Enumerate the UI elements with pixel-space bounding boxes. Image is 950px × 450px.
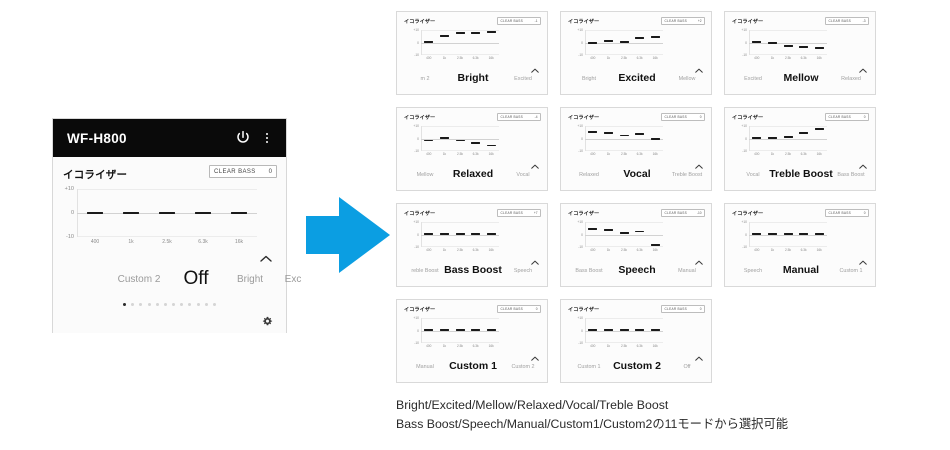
preset-current: Custom 2 — [613, 360, 661, 372]
equalizer-title: イコライザー — [568, 18, 599, 25]
eq-band-bar[interactable] — [456, 140, 465, 142]
grid-line-top — [585, 222, 663, 223]
y-tick-label: +10 — [413, 220, 419, 224]
right-arrow-icon — [306, 197, 390, 273]
eq-band-bar[interactable] — [424, 233, 433, 235]
eq-band-bar[interactable] — [471, 32, 480, 34]
clear-bass-value: 0 — [864, 211, 866, 215]
eq-band-bar[interactable] — [620, 232, 629, 234]
eq-band-bar[interactable] — [487, 145, 496, 147]
card-row: イコライザーCLEAR BASS-4+100-104001k2.5k6.3k16… — [396, 107, 876, 191]
eq-band-bar[interactable] — [635, 37, 644, 39]
clear-bass-label: CLEAR BASS — [665, 19, 698, 23]
grid-line-top — [421, 222, 499, 223]
page-dot[interactable] — [197, 303, 200, 306]
y-tick-label: +10 — [741, 124, 747, 128]
chevron-up-icon[interactable] — [531, 156, 539, 161]
y-tick-label: -10 — [66, 234, 74, 240]
preset-current: Off — [184, 268, 209, 290]
clear-bass-value: -1 — [535, 19, 538, 23]
x-tick-label: 1k — [607, 56, 610, 60]
chevron-up-icon[interactable] — [260, 249, 272, 256]
equalizer-graph[interactable]: +100-104001k2.5k6.3k16k — [749, 30, 827, 55]
eq-band-bar[interactable] — [799, 46, 808, 48]
preset-card[interactable]: イコライザーCLEAR BASS0+100-104001k2.5k6.3k16k… — [560, 107, 712, 191]
gear-icon[interactable] — [262, 314, 273, 325]
eq-band-bar[interactable] — [471, 329, 480, 331]
preset-prev[interactable]: Speech — [744, 268, 762, 274]
preset-current: Manual — [783, 264, 819, 276]
clear-bass-label: CLEAR BASS — [829, 211, 864, 215]
x-tick-label: 6.3k — [473, 56, 479, 60]
x-tick-label: 16k — [653, 56, 658, 60]
clear-bass-label: CLEAR BASS — [665, 307, 700, 311]
grid-line-top — [77, 189, 257, 190]
x-tick-label: 2.5k — [785, 152, 791, 156]
eq-band-bar[interactable] — [651, 329, 660, 331]
x-tick-label: 400 — [754, 248, 759, 252]
eq-band-bar[interactable] — [487, 233, 496, 235]
y-tick-label: -10 — [578, 245, 583, 249]
x-tick-label: 400 — [590, 344, 595, 348]
clear-bass-badge[interactable]: CLEAR BASS0 — [661, 305, 705, 313]
eq-band-bar[interactable] — [424, 41, 433, 43]
clear-bass-label: CLEAR BASS — [829, 115, 864, 119]
clear-bass-value: +7 — [534, 211, 538, 215]
grid-line-top — [749, 126, 827, 127]
x-tick-label: 2.5k — [621, 248, 627, 252]
grid-line-top — [421, 126, 499, 127]
y-tick-label: -10 — [414, 245, 419, 249]
eq-band-bar[interactable] — [815, 128, 824, 130]
y-tick-label: -10 — [578, 341, 583, 345]
y-tick-label: 0 — [417, 41, 419, 45]
x-tick-label: 1k — [607, 152, 610, 156]
eq-band-bar[interactable] — [440, 233, 449, 235]
preset-prev[interactable]: Custom 2 — [118, 274, 161, 285]
grid-line-top — [585, 30, 663, 31]
x-tick-label: 400 — [426, 152, 431, 156]
x-tick-label: 1k — [128, 239, 133, 245]
y-tick-label: 0 — [581, 41, 583, 45]
x-tick-label: 400 — [754, 56, 759, 60]
y-tick-label: 0 — [745, 137, 747, 141]
equalizer-title: イコライザー — [404, 210, 435, 217]
preset-next[interactable]: Treble Boost — [672, 172, 702, 178]
y-tick-label: -10 — [578, 149, 583, 153]
eq-band-bar[interactable] — [456, 32, 465, 34]
eq-band-bar[interactable] — [651, 138, 660, 140]
eq-band-bar[interactable] — [424, 329, 433, 331]
eq-band-bar[interactable] — [588, 42, 597, 44]
y-tick-label: -10 — [414, 53, 419, 57]
clear-bass-label: CLEAR BASS — [501, 307, 536, 311]
page-dot[interactable] — [131, 303, 134, 306]
preset-card[interactable]: イコライザーCLEAR BASS-10+100-104001k2.5k6.3k1… — [560, 203, 712, 287]
eq-band-bar[interactable] — [768, 137, 777, 139]
equalizer-title: イコライザー — [404, 114, 435, 121]
eq-band-bar[interactable] — [815, 47, 824, 49]
grid-line-bottom — [421, 246, 499, 247]
chevron-up-icon[interactable] — [859, 252, 867, 257]
eq-band-bar[interactable] — [604, 40, 613, 42]
page-dot[interactable] — [188, 303, 191, 306]
caption-block: Bright/Excited/Mellow/Relaxed/Vocal/Treb… — [396, 396, 936, 435]
eq-band-bar[interactable] — [471, 142, 480, 144]
clear-bass-label: CLEAR BASS — [214, 169, 269, 175]
preset-card[interactable]: イコライザーCLEAR BASS0+100-104001k2.5k6.3k16k… — [724, 107, 876, 191]
clear-bass-badge[interactable]: CLEAR BASS-1 — [497, 17, 541, 25]
zero-line — [585, 235, 663, 236]
eq-band-bar[interactable] — [471, 233, 480, 235]
preset-carousel[interactable]: SpeechManualCustom 1 — [725, 264, 875, 282]
preset-card[interactable]: イコライザーCLEAR BASS+2+100-104001k2.5k6.3k16… — [560, 11, 712, 95]
page-dot[interactable] — [148, 303, 151, 306]
x-tick-label: 2.5k — [457, 344, 463, 348]
preset-current: Relaxed — [453, 168, 493, 180]
eq-band-bar[interactable] — [620, 329, 629, 331]
equalizer-graph[interactable]: +100-104001k2.5k6.3k16k — [749, 126, 827, 151]
preset-current: Mellow — [783, 72, 818, 84]
preset-prev[interactable]: Vocal — [746, 172, 759, 178]
preset-carousel[interactable]: MellowRelaxedVocal — [397, 168, 547, 186]
y-tick-label: +10 — [577, 124, 583, 128]
x-tick-label: 1k — [443, 56, 446, 60]
eq-band-bar[interactable] — [799, 132, 808, 134]
clear-bass-label: CLEAR BASS — [829, 19, 863, 23]
equalizer-graph[interactable]: +100-104001k2.5k6.3k16k — [421, 222, 499, 247]
y-tick-label: +10 — [577, 220, 583, 224]
eq-band-bar[interactable] — [123, 212, 139, 215]
y-tick-label: 0 — [581, 137, 583, 141]
chevron-up-icon[interactable] — [695, 252, 703, 257]
x-tick-label: 400 — [426, 344, 431, 348]
x-tick-label: 400 — [754, 152, 759, 156]
preset-card[interactable]: イコライザーCLEAR BASS+7+100-104001k2.5k6.3k16… — [396, 203, 548, 287]
preset-next[interactable]: Bass Boost — [837, 172, 864, 178]
eq-band-bar[interactable] — [440, 137, 449, 139]
preset-card[interactable]: イコライザーCLEAR BASS0+100-104001k2.5k6.3k16k… — [724, 203, 876, 287]
preset-next2[interactable]: Exc — [285, 274, 302, 285]
x-tick-label: 1k — [771, 152, 774, 156]
y-tick-label: -10 — [578, 53, 583, 57]
grid-line-bottom — [77, 236, 257, 237]
equalizer-graph[interactable]: +100-104001k2.5k6.3k16k — [421, 318, 499, 343]
eq-band-bar[interactable] — [424, 140, 433, 142]
x-tick-label: 400 — [590, 56, 595, 60]
eq-band-bar[interactable] — [456, 329, 465, 331]
clear-bass-badge[interactable]: CLEAR BASS 0 — [209, 165, 277, 178]
x-tick-label: 2.5k — [785, 56, 791, 60]
preset-carousel[interactable]: m 2BrightExcited — [397, 72, 547, 90]
clear-bass-badge[interactable]: CLEAR BASS-10 — [661, 209, 705, 217]
equalizer-graph[interactable]: +100-104001k2.5k6.3k16k — [749, 222, 827, 247]
equalizer-title: イコライザー — [568, 114, 599, 121]
preset-carousel[interactable]: Custom 2 Off Bright Exc — [53, 271, 286, 293]
eq-band-bar[interactable] — [159, 212, 175, 215]
eq-band-bar[interactable] — [487, 329, 496, 331]
preset-carousel[interactable]: ManualCustom 1Custom 2 — [397, 360, 547, 378]
preset-carousel[interactable]: Bass BoostSpeechManual — [561, 264, 711, 282]
x-tick-label: 1k — [443, 248, 446, 252]
y-tick-label: +10 — [413, 28, 419, 32]
x-tick-label: 16k — [817, 56, 822, 60]
page-indicator — [53, 303, 286, 306]
equalizer-graph[interactable]: +100-104001k2.5k6.3k16k — [421, 126, 499, 151]
x-tick-label: 16k — [817, 152, 822, 156]
clear-bass-badge[interactable]: CLEAR BASS0 — [497, 305, 541, 313]
equalizer-title: イコライザー — [568, 210, 599, 217]
grid-line-bottom — [421, 342, 499, 343]
device-name: WF-H800 — [67, 131, 234, 146]
preset-next[interactable]: Bright — [237, 274, 263, 285]
clear-bass-value: +2 — [698, 19, 702, 23]
overflow-menu-icon[interactable] — [260, 129, 274, 147]
eq-band-bar[interactable] — [752, 137, 761, 139]
equalizer-title: イコライザー — [732, 114, 763, 121]
x-tick-label: 16k — [653, 344, 658, 348]
eq-band-bar[interactable] — [588, 131, 597, 133]
chevron-up-icon[interactable] — [531, 60, 539, 65]
preset-next[interactable]: Manual — [678, 268, 696, 274]
preset-prev[interactable]: reble Boost — [411, 268, 438, 274]
eq-band-bar[interactable] — [635, 231, 644, 233]
x-tick-label: 16k — [489, 248, 494, 252]
grid-line-bottom — [749, 54, 827, 55]
x-tick-label: 6.3k — [637, 152, 643, 156]
equalizer-graph[interactable]: +100-104001k2.5k6.3k16k — [585, 30, 663, 55]
preset-prev[interactable]: m 2 — [421, 76, 430, 82]
x-tick-label: 400 — [426, 248, 431, 252]
page-dot[interactable] — [164, 303, 167, 306]
preset-card[interactable]: イコライザーCLEAR BASS0+100-104001k2.5k6.3k16k… — [560, 299, 712, 383]
x-tick-label: 400 — [590, 152, 595, 156]
eq-band-bar[interactable] — [635, 133, 644, 135]
x-tick-label: 1k — [771, 56, 774, 60]
page-dot[interactable] — [180, 303, 183, 306]
x-tick-label: 2.5k — [457, 152, 463, 156]
equalizer-title: イコライザー — [732, 210, 763, 217]
preset-prev[interactable]: Mellow — [417, 172, 434, 178]
preset-carousel[interactable]: BrightExcitedMellow — [561, 72, 711, 90]
eq-band-bar[interactable] — [195, 212, 211, 215]
caption-line-2: Bass Boost/Speech/Manual/Custom1/Custom2… — [396, 415, 936, 434]
preset-current: Treble Boost — [769, 168, 833, 180]
page-dot[interactable] — [213, 303, 216, 306]
equalizer-graph[interactable]: +100-104001k2.5k6.3k16k — [585, 222, 663, 247]
preset-card[interactable]: イコライザーCLEAR BASS-1+100-104001k2.5k6.3k16… — [396, 11, 548, 95]
x-tick-label: 6.3k — [801, 152, 807, 156]
card-row: イコライザーCLEAR BASS+7+100-104001k2.5k6.3k16… — [396, 203, 876, 287]
clear-bass-value: -10 — [697, 211, 702, 215]
app-body: イコライザー CLEAR BASS 0 +100-104001k2.5k6.3k… — [53, 157, 286, 333]
clear-bass-badge[interactable]: CLEAR BASS-3 — [825, 17, 869, 25]
x-tick-label: 16k — [489, 56, 494, 60]
x-tick-label: 400 — [426, 56, 431, 60]
x-tick-label: 6.3k — [473, 344, 479, 348]
eq-band-bar[interactable] — [588, 228, 597, 230]
eq-band-bar[interactable] — [440, 329, 449, 331]
preset-prev[interactable]: Custom 1 — [577, 364, 600, 370]
preset-next[interactable]: Off — [683, 364, 690, 370]
x-tick-label: 16k — [653, 152, 658, 156]
preset-prev[interactable]: Excited — [744, 76, 762, 82]
eq-band-bar[interactable] — [784, 45, 793, 47]
eq-band-bar[interactable] — [231, 212, 247, 215]
x-tick-label: 6.3k — [473, 152, 479, 156]
preset-next[interactable]: Mellow — [679, 76, 696, 82]
y-tick-label: +10 — [741, 220, 747, 224]
preset-prev[interactable]: Bass Boost — [575, 268, 602, 274]
y-tick-label: +10 — [413, 124, 419, 128]
eq-band-bar[interactable] — [752, 233, 761, 235]
preset-current: Speech — [618, 264, 655, 276]
equalizer-graph[interactable]: +100-104001k2.5k6.3k16k — [585, 318, 663, 343]
eq-band-bar[interactable] — [651, 244, 660, 246]
y-tick-label: +10 — [741, 28, 747, 32]
clear-bass-badge[interactable]: CLEAR BASS+2 — [661, 17, 705, 25]
eq-band-bar[interactable] — [620, 41, 629, 43]
power-icon[interactable] — [234, 129, 252, 147]
eq-band-bar[interactable] — [604, 229, 613, 231]
grid-line-bottom — [585, 246, 663, 247]
screenshot-root: WF-H800 イコライザー CLEAR BASS 0 +100-104001k… — [0, 0, 950, 450]
grid-line-top — [749, 30, 827, 31]
page-dot[interactable] — [205, 303, 208, 306]
equalizer-graph[interactable]: +100-104001k2.5k6.3k16k — [77, 189, 257, 237]
x-tick-label: 1k — [443, 344, 446, 348]
x-tick-label: 1k — [607, 344, 610, 348]
page-dot[interactable] — [123, 303, 126, 306]
page-dot[interactable] — [139, 303, 142, 306]
eq-band-bar[interactable] — [768, 42, 777, 44]
preset-next[interactable]: Custom 1 — [839, 268, 862, 274]
eq-band-bar[interactable] — [588, 329, 597, 331]
clear-bass-badge[interactable]: CLEAR BASS+7 — [497, 209, 541, 217]
y-tick-label: +10 — [577, 28, 583, 32]
eq-band-bar[interactable] — [799, 233, 808, 235]
eq-band-bar[interactable] — [768, 233, 777, 235]
preset-next[interactable]: Relaxed — [841, 76, 861, 82]
eq-band-bar[interactable] — [456, 233, 465, 235]
clear-bass-value: -3 — [863, 19, 866, 23]
equalizer-graph[interactable]: +100-104001k2.5k6.3k16k — [585, 126, 663, 151]
x-tick-label: 6.3k — [473, 248, 479, 252]
preset-card[interactable]: イコライザーCLEAR BASS0+100-104001k2.5k6.3k16k… — [396, 299, 548, 383]
preset-card[interactable]: イコライザーCLEAR BASS-4+100-104001k2.5k6.3k16… — [396, 107, 548, 191]
clear-bass-label: CLEAR BASS — [665, 211, 697, 215]
eq-band-bar[interactable] — [604, 132, 613, 134]
clear-bass-badge[interactable]: CLEAR BASS0 — [661, 113, 705, 121]
eq-band-bar[interactable] — [651, 36, 660, 38]
x-tick-label: 16k — [817, 248, 822, 252]
clear-bass-badge[interactable]: CLEAR BASS0 — [825, 113, 869, 121]
preset-prev[interactable]: Manual — [416, 364, 434, 370]
chevron-up-icon[interactable] — [695, 156, 703, 161]
eq-band-bar[interactable] — [87, 212, 103, 215]
chevron-up-icon[interactable] — [859, 156, 867, 161]
y-tick-label: -10 — [414, 149, 419, 153]
chevron-up-icon[interactable] — [531, 348, 539, 353]
clear-bass-label: CLEAR BASS — [665, 115, 700, 119]
preset-current: Bright — [458, 72, 489, 84]
grid-line-top — [585, 318, 663, 319]
preset-carousel[interactable]: ExcitedMellowRelaxed — [725, 72, 875, 90]
clear-bass-value: -4 — [535, 115, 538, 119]
eq-band-bar[interactable] — [604, 329, 613, 331]
page-dot[interactable] — [172, 303, 175, 306]
chevron-up-icon[interactable] — [531, 252, 539, 257]
x-tick-label: 1k — [771, 248, 774, 252]
preset-next[interactable]: Excited — [514, 76, 532, 82]
equalizer-title: イコライザー — [404, 18, 435, 25]
clear-bass-label: CLEAR BASS — [501, 115, 535, 119]
y-tick-label: -10 — [414, 341, 419, 345]
equalizer-title: イコライザー — [63, 167, 127, 182]
equalizer-title: イコライザー — [732, 18, 763, 25]
grid-line-bottom — [421, 54, 499, 55]
chevron-up-icon[interactable] — [859, 60, 867, 65]
preset-carousel[interactable]: reble BoostBass BoostSpeech — [397, 264, 547, 282]
chevron-up-icon[interactable] — [695, 60, 703, 65]
preset-next[interactable]: Custom 2 — [511, 364, 534, 370]
x-tick-label: 16k — [653, 248, 658, 252]
x-tick-label: 1k — [443, 152, 446, 156]
grid-line-top — [585, 126, 663, 127]
eq-band-bar[interactable] — [784, 136, 793, 138]
clear-bass-value: 0 — [700, 307, 702, 311]
x-tick-label: 16k — [235, 239, 243, 245]
app-header: WF-H800 — [53, 119, 286, 157]
eq-band-bar[interactable] — [635, 329, 644, 331]
grid-line-bottom — [585, 342, 663, 343]
card-row: イコライザーCLEAR BASS-1+100-104001k2.5k6.3k16… — [396, 11, 876, 95]
preset-next[interactable]: Speech — [514, 268, 532, 274]
eq-band-bar[interactable] — [815, 233, 824, 235]
eq-band-bar[interactable] — [752, 41, 761, 43]
x-tick-label: 2.5k — [457, 248, 463, 252]
x-tick-label: 16k — [489, 344, 494, 348]
x-tick-label: 6.3k — [801, 248, 807, 252]
y-tick-label: 0 — [417, 137, 419, 141]
clear-bass-badge[interactable]: CLEAR BASS-4 — [497, 113, 541, 121]
equalizer-graph[interactable]: +100-104001k2.5k6.3k16k — [421, 30, 499, 55]
preset-prev[interactable]: Relaxed — [579, 172, 599, 178]
eq-band-bar[interactable] — [784, 233, 793, 235]
preset-card[interactable]: イコライザーCLEAR BASS-3+100-104001k2.5k6.3k16… — [724, 11, 876, 95]
x-tick-label: 2.5k — [621, 56, 627, 60]
eq-band-bar[interactable] — [440, 35, 449, 37]
preset-carousel[interactable]: RelaxedVocalTreble Boost — [561, 168, 711, 186]
preset-carousel[interactable]: Custom 1Custom 2Off — [561, 360, 711, 378]
eq-band-bar[interactable] — [620, 135, 629, 137]
x-tick-label: 2.5k — [457, 56, 463, 60]
app-screenshot-main: WF-H800 イコライザー CLEAR BASS 0 +100-104001k… — [52, 118, 287, 333]
eq-band-bar[interactable] — [487, 31, 496, 33]
preset-prev[interactable]: Bright — [582, 76, 596, 82]
x-tick-label: 2.5k — [621, 344, 627, 348]
preset-next[interactable]: Vocal — [516, 172, 529, 178]
x-tick-label: 2.5k — [162, 239, 171, 245]
preset-carousel[interactable]: VocalTreble BoostBass Boost — [725, 168, 875, 186]
caption-line-1: Bright/Excited/Mellow/Relaxed/Vocal/Treb… — [396, 396, 936, 415]
clear-bass-badge[interactable]: CLEAR BASS0 — [825, 209, 869, 217]
page-dot[interactable] — [156, 303, 159, 306]
chevron-up-icon[interactable] — [695, 348, 703, 353]
clear-bass-value: 0 — [269, 169, 272, 175]
preset-current: Bass Boost — [444, 264, 502, 276]
y-tick-label: 0 — [581, 233, 583, 237]
